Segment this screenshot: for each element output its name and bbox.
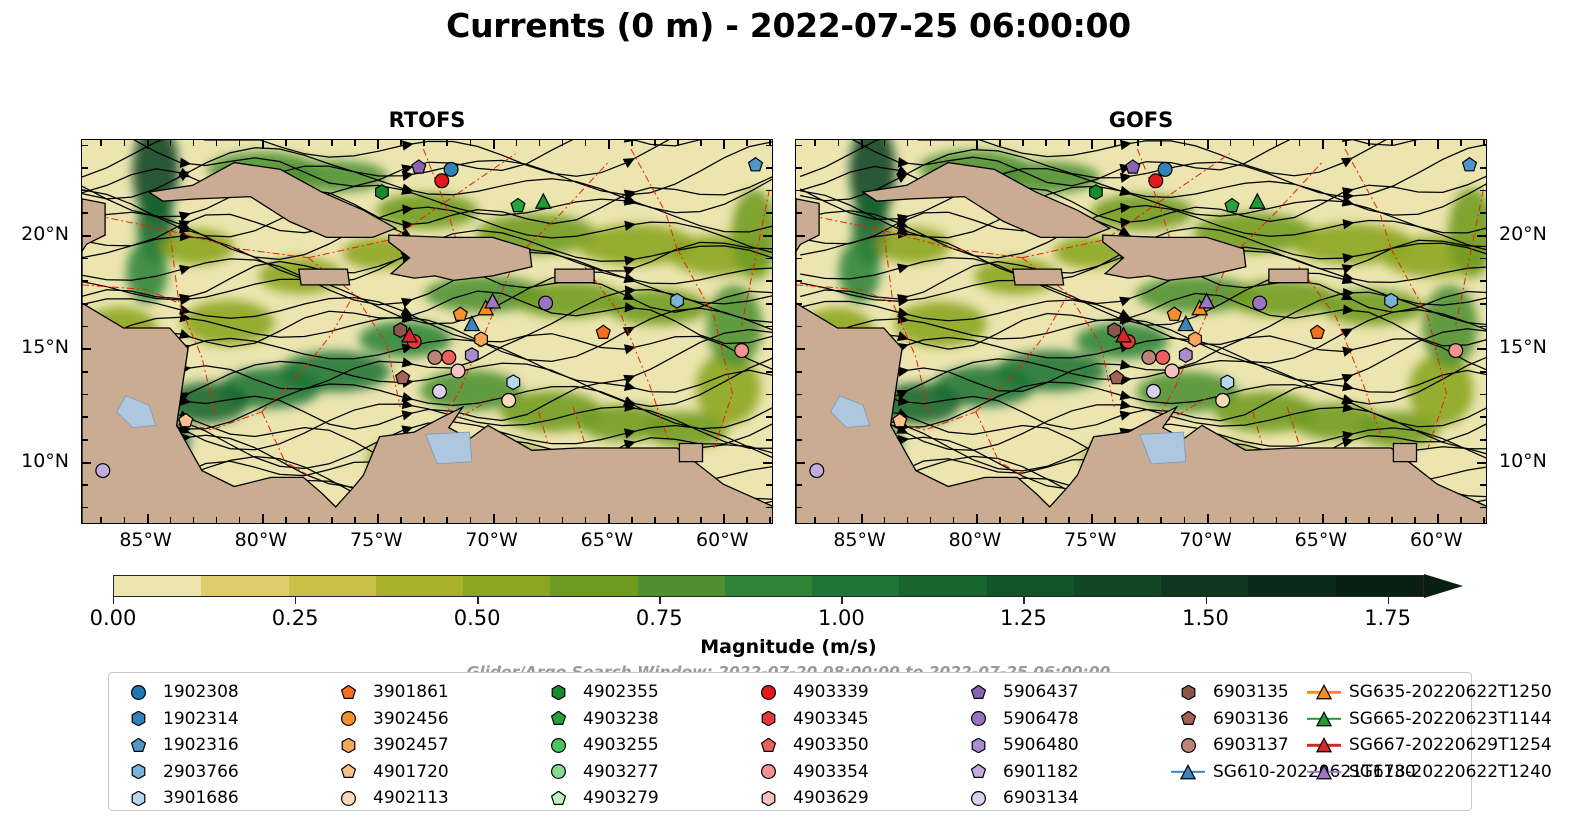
y-axis-tick	[796, 190, 802, 192]
map-marker-6903134	[433, 385, 447, 399]
legend-item-4903255[interactable]: 4903255	[541, 732, 751, 759]
colorbar[interactable]: 0.000.250.500.751.001.251.501.75	[113, 575, 1463, 597]
x-axis-tick	[746, 140, 748, 146]
y-axis-tick	[796, 303, 802, 305]
x-axis-tick	[1207, 140, 1209, 149]
legend-item-label: 4903354	[785, 762, 869, 782]
x-axis-tick	[562, 517, 564, 523]
y-axis-tick	[82, 212, 88, 214]
legend-item-4903350[interactable]: 4903350	[751, 732, 961, 759]
x-axis-tick	[216, 517, 218, 523]
x-axis-tick	[723, 514, 725, 523]
legend-item-3902456[interactable]: 3902456	[331, 706, 541, 733]
map-panel-gofs[interactable]: GOFS 85°W80°W75°W70°W65°W60°W20°N15°N10°…	[795, 139, 1487, 524]
y-axis-tick	[796, 371, 802, 373]
map-marker-2903766	[1385, 294, 1398, 309]
x-axis-tick	[861, 140, 863, 149]
x-axis-tick	[1414, 517, 1416, 523]
x-axis-tick	[124, 517, 126, 523]
colorbar-band-8	[812, 576, 899, 596]
y-axis-label: 10°N	[21, 450, 69, 472]
map-marker-6903134	[1147, 385, 1161, 399]
map-marker-5906480	[1180, 348, 1193, 363]
x-axis-tick	[1230, 517, 1232, 523]
x-axis-tick	[1253, 517, 1255, 523]
y-axis-tick	[766, 371, 772, 373]
x-axis-tick	[1483, 517, 1485, 523]
colorbar-tick-label: 1.25	[1000, 606, 1047, 630]
legend-column: 59064375906478590648069011826903134	[961, 679, 1171, 812]
legend-item-3901686[interactable]: 3901686	[121, 785, 331, 812]
x-axis-tick	[308, 140, 310, 146]
colorbar-band-10	[987, 576, 1074, 596]
x-axis-tick	[677, 140, 679, 146]
colorbar-tick	[113, 597, 114, 604]
y-axis-tick	[82, 280, 88, 282]
y-axis-tick	[82, 190, 88, 192]
y-axis-tick	[1480, 439, 1486, 441]
map-marker-4903350	[1156, 351, 1170, 365]
colorbar-band-7	[725, 576, 812, 596]
legend-item-label: 6903134	[995, 788, 1079, 808]
y-axis-label: 15°N	[1499, 336, 1547, 358]
legend-item-label: 3901686	[155, 788, 239, 808]
map-marker-3902457	[475, 332, 488, 347]
legend-item-label: 4903629	[785, 788, 869, 808]
hexagon-marker-icon	[121, 764, 155, 779]
x-axis-tick	[884, 517, 886, 523]
legend-item-6901182[interactable]: 6901182	[961, 759, 1171, 786]
x-axis-tick	[1022, 140, 1024, 146]
y-axis-tick	[1480, 167, 1486, 169]
legend-item-1902316[interactable]: 1902316	[121, 732, 331, 759]
colorbar-band-14	[1336, 576, 1423, 596]
y-axis-tick	[82, 462, 91, 464]
x-axis-tick	[262, 140, 264, 149]
map-marker-5906480	[466, 348, 479, 363]
legend-item-SG665-20220623T1144[interactable]: SG665-20220623T1144	[1307, 706, 1577, 733]
legend-column: 19023081902314190231629037663901686	[121, 679, 331, 812]
y-axis-tick	[766, 507, 772, 509]
y-axis-tick	[1480, 371, 1486, 373]
hexagon-marker-icon	[961, 738, 995, 753]
x-axis-tick	[814, 517, 816, 523]
x-axis-tick	[1368, 140, 1370, 146]
y-axis-label: 20°N	[21, 223, 69, 245]
legend-column: 39018613902456390245749017204902113	[331, 679, 541, 812]
map-marker-4903629	[451, 364, 465, 378]
y-axis-tick	[82, 145, 88, 147]
x-axis-tick	[700, 140, 702, 146]
y-axis-tick	[82, 326, 88, 328]
legend-item-label: 1902308	[155, 682, 239, 702]
x-axis-tick	[1068, 140, 1070, 146]
y-axis-tick	[1480, 507, 1486, 509]
legend-item-label: 2903766	[155, 762, 239, 782]
colorbar-tick	[1206, 597, 1207, 604]
legend-item-label: 6901182	[995, 762, 1079, 782]
x-axis-tick	[516, 140, 518, 146]
legend-item-1902308[interactable]: 1902308	[121, 679, 331, 706]
x-axis-tick	[170, 140, 172, 146]
legend-item-4902355[interactable]: 4902355	[541, 679, 751, 706]
legend-item-4901720[interactable]: 4901720	[331, 759, 541, 786]
y-axis-tick	[796, 416, 802, 418]
x-axis-tick	[493, 514, 495, 523]
x-axis-label: 65°W	[581, 529, 633, 551]
y-axis-tick	[82, 167, 88, 169]
x-axis-tick	[1437, 140, 1439, 149]
y-axis-tick	[82, 303, 88, 305]
x-axis-tick	[861, 514, 863, 523]
y-axis-tick	[796, 462, 805, 464]
colorbar-tick-label: 0.50	[454, 606, 501, 630]
x-axis-tick	[1207, 514, 1209, 523]
x-axis-tick	[400, 517, 402, 523]
pentagon-marker-icon	[331, 764, 365, 779]
x-axis-tick	[1414, 140, 1416, 146]
y-axis-tick	[1477, 235, 1486, 237]
y-axis-tick	[796, 258, 802, 260]
x-axis-label: 75°W	[1064, 529, 1116, 551]
map-canvas-gofs	[796, 140, 1486, 523]
pentagon-marker-icon	[751, 738, 785, 753]
map-marker-6903135	[1108, 323, 1121, 338]
hexagon-marker-icon	[121, 791, 155, 806]
map-marker-6901182	[96, 464, 110, 478]
x-axis-tick	[1276, 140, 1278, 146]
y-axis-tick	[796, 235, 805, 237]
x-axis-tick	[147, 514, 149, 523]
glider-track-icon	[1307, 711, 1341, 727]
legend-item-label: 1902314	[155, 709, 239, 729]
colorbar-tick-label: 0.75	[636, 606, 683, 630]
x-axis-label: 80°W	[949, 529, 1001, 551]
x-axis-label: 60°W	[1410, 529, 1462, 551]
x-axis-tick	[539, 140, 541, 146]
legend-item-4903279[interactable]: 4903279	[541, 785, 751, 812]
map-render-layer	[82, 140, 773, 524]
y-axis-tick	[1480, 145, 1486, 147]
legend-item-label: 4903345	[785, 709, 869, 729]
x-axis-tick	[1091, 140, 1093, 149]
x-axis-tick	[907, 140, 909, 146]
panel-title-rtofs: RTOFS	[81, 108, 773, 132]
pentagon-marker-icon	[121, 738, 155, 753]
legend-item-label: 4902113	[365, 788, 449, 808]
x-axis-tick	[124, 140, 126, 146]
legend-item-label: 4903339	[785, 682, 869, 702]
x-axis-tick	[285, 517, 287, 523]
legend-item-label: 6903136	[1205, 709, 1289, 729]
x-axis-label: 85°W	[119, 529, 171, 551]
legend-item-label: 4903350	[785, 735, 869, 755]
y-axis-tick	[1480, 258, 1486, 260]
x-axis-tick	[1045, 517, 1047, 523]
map-marker-1902314	[444, 163, 458, 177]
colorbar-tick-label: 1.75	[1364, 606, 1411, 630]
y-axis-tick	[1480, 190, 1486, 192]
circle-marker-icon	[751, 685, 785, 700]
legend-item-label: 4902355	[575, 682, 659, 702]
x-axis-tick	[193, 517, 195, 523]
x-axis-tick	[1022, 517, 1024, 523]
legend-item-SG678-20220622T1240[interactable]: SG678-20220622T1240	[1307, 759, 1577, 786]
x-axis-tick	[1322, 140, 1324, 149]
colorbar-tick	[477, 597, 478, 604]
colorbar-band-4	[463, 576, 550, 596]
map-marker-3901686	[1221, 375, 1234, 390]
circle-marker-icon	[121, 685, 155, 700]
legend-item-4903238[interactable]: 4903238	[541, 706, 751, 733]
legend-item-2903766[interactable]: 2903766	[121, 759, 331, 786]
panel-title-gofs: GOFS	[795, 108, 1487, 132]
x-axis-tick	[446, 517, 448, 523]
map-marker-6903137	[428, 351, 442, 365]
x-axis-tick	[100, 140, 102, 146]
y-axis-tick	[766, 212, 772, 214]
y-axis-tick	[766, 145, 772, 147]
x-axis-tick	[377, 514, 379, 523]
glider-track-icon	[1307, 737, 1341, 753]
y-axis-tick	[766, 416, 772, 418]
y-axis-tick	[763, 348, 772, 350]
y-axis-tick	[82, 439, 88, 441]
y-axis-tick	[796, 348, 805, 350]
x-axis-tick	[1368, 517, 1370, 523]
y-axis-tick	[766, 190, 772, 192]
map-frame-rtofs[interactable]	[81, 139, 773, 524]
colorbar-band-0	[114, 576, 201, 596]
x-axis-tick	[838, 140, 840, 146]
y-axis-tick	[1480, 326, 1486, 328]
x-axis-tick	[1068, 517, 1070, 523]
y-axis-tick	[766, 484, 772, 486]
map-marker-4902355	[1090, 185, 1103, 200]
x-axis-tick	[1322, 514, 1324, 523]
pentagon-marker-icon	[1171, 711, 1205, 726]
x-axis-tick	[953, 517, 955, 523]
map-marker-2903766	[671, 294, 684, 309]
x-axis-tick	[1184, 517, 1186, 523]
x-axis-tick	[608, 514, 610, 523]
x-axis-tick	[930, 140, 932, 146]
legend-item-4903339[interactable]: 4903339	[751, 679, 961, 706]
map-marker-4902113	[502, 394, 516, 408]
colorbar-gradient	[113, 575, 1424, 597]
map-marker-1902314	[1158, 163, 1172, 177]
x-axis-tick	[700, 517, 702, 523]
x-axis-tick	[216, 140, 218, 146]
x-axis-tick	[331, 140, 333, 146]
x-axis-tick	[1253, 140, 1255, 146]
x-axis-tick	[631, 517, 633, 523]
legend-item-5906478[interactable]: 5906478	[961, 706, 1171, 733]
circle-marker-icon	[961, 711, 995, 726]
x-axis-tick	[1345, 140, 1347, 146]
x-axis-tick	[285, 140, 287, 146]
y-axis-tick	[82, 348, 91, 350]
legend-item-SG635-20220622T1250[interactable]: SG635-20220622T1250	[1307, 679, 1577, 706]
y-axis-tick	[796, 280, 802, 282]
map-panel-rtofs[interactable]: RTOFS 85°W80°W75°W70°W65°W60°W20°N15°N10…	[81, 139, 773, 524]
legend-item-4903629[interactable]: 4903629	[751, 785, 961, 812]
y-axis-tick	[1477, 348, 1486, 350]
pentagon-marker-icon	[331, 685, 365, 700]
legend-item-3902457[interactable]: 3902457	[331, 732, 541, 759]
legend-item-SG667-20220629T1254[interactable]: SG667-20220629T1254	[1307, 732, 1577, 759]
x-axis-tick	[1045, 140, 1047, 146]
legend-column: 49033394903345490335049033544903629	[751, 679, 961, 812]
y-axis-tick	[796, 326, 802, 328]
map-frame-gofs[interactable]	[795, 139, 1487, 524]
x-axis-tick	[1114, 140, 1116, 146]
colorbar-extend-arrow	[1424, 574, 1463, 598]
x-axis-tick	[1160, 517, 1162, 523]
x-axis-tick	[976, 140, 978, 149]
legend-item-label: SG667-20220629T1254	[1341, 735, 1552, 755]
y-axis-label: 10°N	[1499, 450, 1547, 472]
legend-item-6903134[interactable]: 6903134	[961, 785, 1171, 812]
x-axis-tick	[1137, 517, 1139, 523]
hexagon-marker-icon	[1171, 685, 1205, 700]
legend-item-label: 1902316	[155, 735, 239, 755]
x-axis-tick	[1345, 517, 1347, 523]
x-axis-tick	[354, 517, 356, 523]
pentagon-marker-icon	[961, 764, 995, 779]
y-axis-label: 15°N	[21, 336, 69, 358]
x-axis-tick	[1460, 140, 1462, 146]
circle-marker-icon	[751, 764, 785, 779]
colorbar-band-3	[376, 576, 463, 596]
x-axis-tick	[631, 140, 633, 146]
x-axis-tick	[1460, 517, 1462, 523]
y-axis-tick	[796, 394, 802, 396]
legend-item-4903277[interactable]: 4903277	[541, 759, 751, 786]
legend-item-4903354[interactable]: 4903354	[751, 759, 961, 786]
x-axis-tick	[1137, 140, 1139, 146]
y-axis-tick	[82, 258, 88, 260]
colorbar-band-13	[1248, 576, 1335, 596]
x-axis-tick	[423, 140, 425, 146]
colorbar-tick-label: 0.00	[90, 606, 137, 630]
y-axis-tick	[1480, 280, 1486, 282]
colorbar-band-5	[550, 576, 637, 596]
x-axis-tick	[400, 140, 402, 146]
circle-marker-icon	[541, 764, 575, 779]
x-axis-tick	[354, 140, 356, 146]
circle-marker-icon	[541, 738, 575, 753]
colorbar-tick	[1023, 597, 1024, 604]
legend-item-label: 3902457	[365, 735, 449, 755]
colorbar-tick	[1388, 597, 1389, 604]
x-axis-tick	[262, 514, 264, 523]
hexagon-marker-icon	[751, 711, 785, 726]
y-axis-tick	[1480, 212, 1486, 214]
x-axis-tick	[723, 140, 725, 149]
legend-item-5906437[interactable]: 5906437	[961, 679, 1171, 706]
x-axis-tick	[953, 140, 955, 146]
x-axis-tick	[539, 517, 541, 523]
x-axis-tick	[100, 517, 102, 523]
y-axis-tick	[796, 145, 802, 147]
y-axis-tick	[1480, 416, 1486, 418]
map-marker-6903137	[1142, 351, 1156, 365]
pentagon-marker-icon	[961, 685, 995, 700]
x-axis-tick	[585, 140, 587, 146]
legend-item-1902314[interactable]: 1902314	[121, 706, 331, 733]
x-axis-tick	[377, 140, 379, 149]
map-marker-4903629	[1165, 364, 1179, 378]
y-axis-tick	[1480, 484, 1486, 486]
legend-item-3901861[interactable]: 3901861	[331, 679, 541, 706]
x-axis-tick	[470, 517, 472, 523]
x-axis-tick	[976, 514, 978, 523]
x-axis-tick	[1299, 517, 1301, 523]
x-axis-tick	[814, 140, 816, 146]
map-marker-4902113	[1216, 394, 1230, 408]
x-axis-tick	[608, 140, 610, 149]
x-axis-tick	[239, 517, 241, 523]
y-axis-tick	[796, 507, 802, 509]
legend-item-label: 4903255	[575, 735, 659, 755]
x-axis-tick	[470, 140, 472, 146]
legend-item-5906480[interactable]: 5906480	[961, 732, 1171, 759]
legend-box[interactable]: 1902308190231419023162903766390168639018…	[108, 672, 1472, 811]
legend-item-label: 3902456	[365, 709, 449, 729]
legend-item-label: 4903279	[575, 788, 659, 808]
y-axis-tick	[766, 258, 772, 260]
legend-item-label: SG678-20220622T1240	[1341, 762, 1552, 782]
colorbar-band-6	[638, 576, 725, 596]
x-axis-tick	[562, 140, 564, 146]
map-marker-4903339	[435, 174, 449, 188]
map-marker-3901686	[507, 375, 520, 390]
x-axis-tick	[585, 517, 587, 523]
x-axis-tick	[193, 140, 195, 146]
legend-item-label: 5906437	[995, 682, 1079, 702]
x-axis-label: 80°W	[235, 529, 287, 551]
legend-item-4902113[interactable]: 4902113	[331, 785, 541, 812]
pentagon-marker-icon	[541, 791, 575, 806]
x-axis-tick	[999, 517, 1001, 523]
legend-item-4903345[interactable]: 4903345	[751, 706, 961, 733]
x-axis-tick	[838, 517, 840, 523]
y-axis-tick	[1480, 394, 1486, 396]
x-axis-tick	[423, 517, 425, 523]
x-axis-tick	[769, 517, 771, 523]
x-axis-tick	[1160, 140, 1162, 146]
y-axis-tick	[763, 462, 772, 464]
map-marker-6903135	[394, 323, 407, 338]
circle-marker-icon	[1171, 738, 1205, 753]
x-axis-tick	[331, 517, 333, 523]
y-axis-tick	[796, 484, 802, 486]
glider-track-icon	[1307, 764, 1341, 780]
y-axis-tick	[1480, 303, 1486, 305]
colorbar-band-11	[1074, 576, 1161, 596]
y-axis-tick	[763, 235, 772, 237]
y-axis-tick	[796, 167, 802, 169]
y-axis-tick	[82, 371, 88, 373]
x-axis-label: 70°W	[465, 529, 517, 551]
legend-item-label: SG635-20220622T1250	[1341, 682, 1552, 702]
map-marker-6901182	[810, 464, 824, 478]
x-axis-tick	[1391, 517, 1393, 523]
x-axis-label: 75°W	[350, 529, 402, 551]
colorbar-band-9	[899, 576, 986, 596]
legend-item-label: 5906480	[995, 735, 1079, 755]
